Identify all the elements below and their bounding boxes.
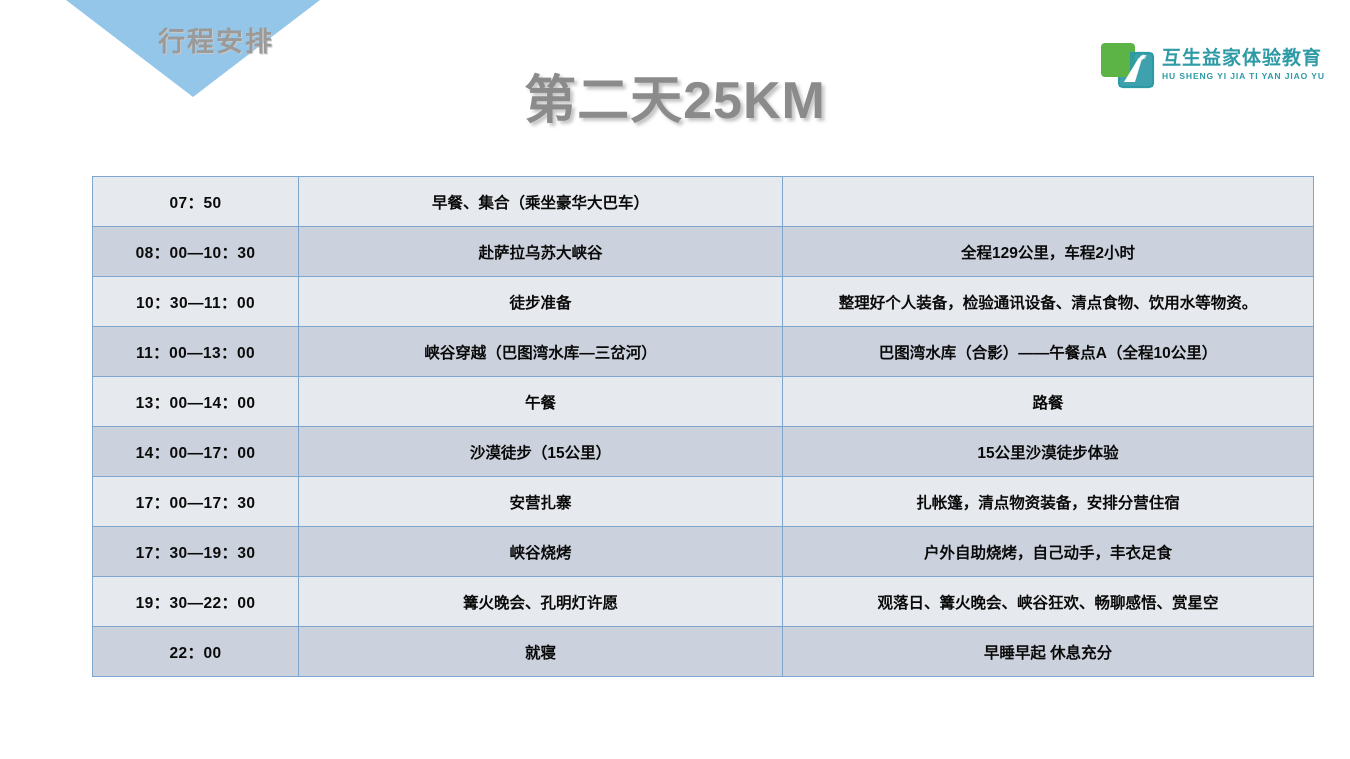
cell-time: 11：00—13：00 bbox=[93, 327, 299, 377]
cell-time: 14：00—17：00 bbox=[93, 427, 299, 477]
cell-activity: 峡谷穿越（巴图湾水库—三岔河） bbox=[299, 327, 783, 377]
logo-name-cn: 互生益家体验教育 bbox=[1162, 49, 1325, 69]
table-row: 11：00—13：00 峡谷穿越（巴图湾水库—三岔河） 巴图湾水库（合影）——午… bbox=[93, 327, 1314, 377]
cell-note: 早睡早起 休息充分 bbox=[783, 627, 1314, 677]
cell-time: 22：00 bbox=[93, 627, 299, 677]
table-row: 07：50 早餐、集合（乘坐豪华大巴车） bbox=[93, 177, 1314, 227]
cell-activity: 沙漠徒步（15公里） bbox=[299, 427, 783, 477]
cell-note: 户外自助烧烤，自己动手，丰衣足食 bbox=[783, 527, 1314, 577]
table-row: 08：00—10：30 赴萨拉乌苏大峡谷 全程129公里，车程2小时 bbox=[93, 227, 1314, 277]
cell-activity: 午餐 bbox=[299, 377, 783, 427]
table-row: 19：30—22：00 篝火晚会、孔明灯许愿 观落日、篝火晚会、峡谷狂欢、畅聊感… bbox=[93, 577, 1314, 627]
cell-activity: 徒步准备 bbox=[299, 277, 783, 327]
logo-mark-icon bbox=[1100, 41, 1158, 91]
logo-text-block: 互生益家体验教育 HU SHENG YI JIA TI YAN JIAO YU bbox=[1162, 49, 1325, 83]
table-row: 13：00—14：00 午餐 路餐 bbox=[93, 377, 1314, 427]
cell-activity: 就寝 bbox=[299, 627, 783, 677]
cell-time: 07：50 bbox=[93, 177, 299, 227]
cell-note: 扎帐篷，清点物资装备，安排分营住宿 bbox=[783, 477, 1314, 527]
cell-note: 巴图湾水库（合影）——午餐点A（全程10公里） bbox=[783, 327, 1314, 377]
logo-name-pinyin: HU SHENG YI JIA TI YAN JIAO YU bbox=[1162, 71, 1325, 83]
cell-time: 13：00—14：00 bbox=[93, 377, 299, 427]
cell-note: 路餐 bbox=[783, 377, 1314, 427]
cell-note: 整理好个人装备，检验通讯设备、清点食物、饮用水等物资。 bbox=[783, 277, 1314, 327]
cell-time: 10：30—11：00 bbox=[93, 277, 299, 327]
cell-activity: 早餐、集合（乘坐豪华大巴车） bbox=[299, 177, 783, 227]
table-row: 10：30—11：00 徒步准备 整理好个人装备，检验通讯设备、清点食物、饮用水… bbox=[93, 277, 1314, 327]
itinerary-table-body: 07：50 早餐、集合（乘坐豪华大巴车） 08：00—10：30 赴萨拉乌苏大峡… bbox=[93, 177, 1314, 677]
cell-note: 观落日、篝火晚会、峡谷狂欢、畅聊感悟、赏星空 bbox=[783, 577, 1314, 627]
cell-activity: 安营扎寨 bbox=[299, 477, 783, 527]
table-row: 14：00—17：00 沙漠徒步（15公里） 15公里沙漠徒步体验 bbox=[93, 427, 1314, 477]
cell-time: 08：00—10：30 bbox=[93, 227, 299, 277]
cell-note: 全程129公里，车程2小时 bbox=[783, 227, 1314, 277]
cell-activity: 赴萨拉乌苏大峡谷 bbox=[299, 227, 783, 277]
cell-activity: 篝火晚会、孔明灯许愿 bbox=[299, 577, 783, 627]
cell-activity: 峡谷烧烤 bbox=[299, 527, 783, 577]
cell-time: 17：00—17：30 bbox=[93, 477, 299, 527]
cell-note bbox=[783, 177, 1314, 227]
banner-label: 行程安排 bbox=[66, 20, 320, 59]
cell-time: 19：30—22：00 bbox=[93, 577, 299, 627]
itinerary-table: 07：50 早餐、集合（乘坐豪华大巴车） 08：00—10：30 赴萨拉乌苏大峡… bbox=[92, 176, 1314, 677]
company-logo: 互生益家体验教育 HU SHENG YI JIA TI YAN JIAO YU bbox=[1100, 38, 1330, 94]
table-row: 17：30—19：30 峡谷烧烤 户外自助烧烤，自己动手，丰衣足食 bbox=[93, 527, 1314, 577]
cell-note: 15公里沙漠徒步体验 bbox=[783, 427, 1314, 477]
table-row: 22：00 就寝 早睡早起 休息充分 bbox=[93, 627, 1314, 677]
table-row: 17：00—17：30 安营扎寨 扎帐篷，清点物资装备，安排分营住宿 bbox=[93, 477, 1314, 527]
cell-time: 17：30—19：30 bbox=[93, 527, 299, 577]
